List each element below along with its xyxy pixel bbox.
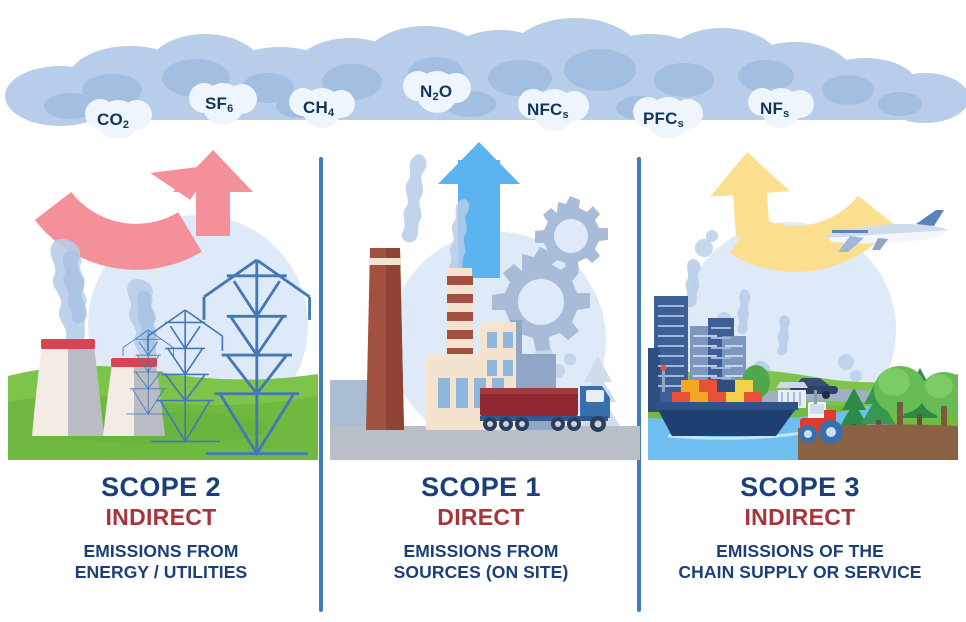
scope-1-desc-line1: EMISSIONS FROM — [322, 541, 640, 563]
scope-1-description: EMISSIONS FROM SOURCES (ON SITE) — [322, 541, 640, 584]
gas-label-n2o: N2O — [420, 82, 452, 102]
gas-label-sf6: SF6 — [205, 94, 233, 114]
scope-3-kind: INDIRECT — [641, 504, 959, 530]
scope-2-desc-line1: EMISSIONS FROM — [2, 541, 320, 563]
infographic-root: CO2 SF6 CH4 N2O NFCs PFCs NFs — [0, 0, 966, 622]
gas-label-nfcs: NFCs — [527, 100, 569, 120]
scope-3-desc-line1: EMISSIONS OF THE — [641, 541, 959, 563]
scope-2-desc-line2: ENERGY / UTILITIES — [2, 562, 320, 584]
cooling-tower-large — [32, 339, 104, 436]
scene-power-plant — [8, 140, 318, 460]
scope-2-title: SCOPE 2 — [2, 473, 320, 502]
gas-label-nfs: NFs — [760, 99, 789, 119]
scope-3-title: SCOPE 3 — [641, 473, 959, 502]
scope-2-description: EMISSIONS FROM ENERGY / UTILITIES — [2, 541, 320, 584]
caption-scope-3: SCOPE 3 INDIRECT EMISSIONS OF THE CHAIN … — [641, 473, 959, 584]
caption-scope-1: SCOPE 1 DIRECT EMISSIONS FROM SOURCES (O… — [322, 473, 640, 584]
gas-label-co2: CO2 — [97, 110, 129, 130]
scope-1-desc-line2: SOURCES (ON SITE) — [322, 562, 640, 584]
scope-2-kind: INDIRECT — [2, 504, 320, 530]
gas-label-pfcs: PFCs — [643, 109, 684, 129]
scope-1-kind: DIRECT — [322, 504, 640, 530]
scope-3-desc-line2: CHAIN SUPPLY OR SERVICE — [641, 562, 959, 584]
caption-scope-2: SCOPE 2 INDIRECT EMISSIONS FROM ENERGY /… — [2, 473, 320, 584]
scene-factory — [330, 140, 640, 460]
scope-3-description: EMISSIONS OF THE CHAIN SUPPLY OR SERVICE — [641, 541, 959, 584]
scope-1-title: SCOPE 1 — [322, 473, 640, 502]
cooling-tower-small — [103, 358, 165, 436]
smokestack-main — [366, 248, 404, 430]
gas-label-ch4: CH4 — [303, 98, 334, 118]
scene-supply-chain — [648, 140, 958, 460]
greenhouse-gas-cloud: CO2 SF6 CH4 N2O NFCs PFCs NFs — [0, 18, 966, 138]
